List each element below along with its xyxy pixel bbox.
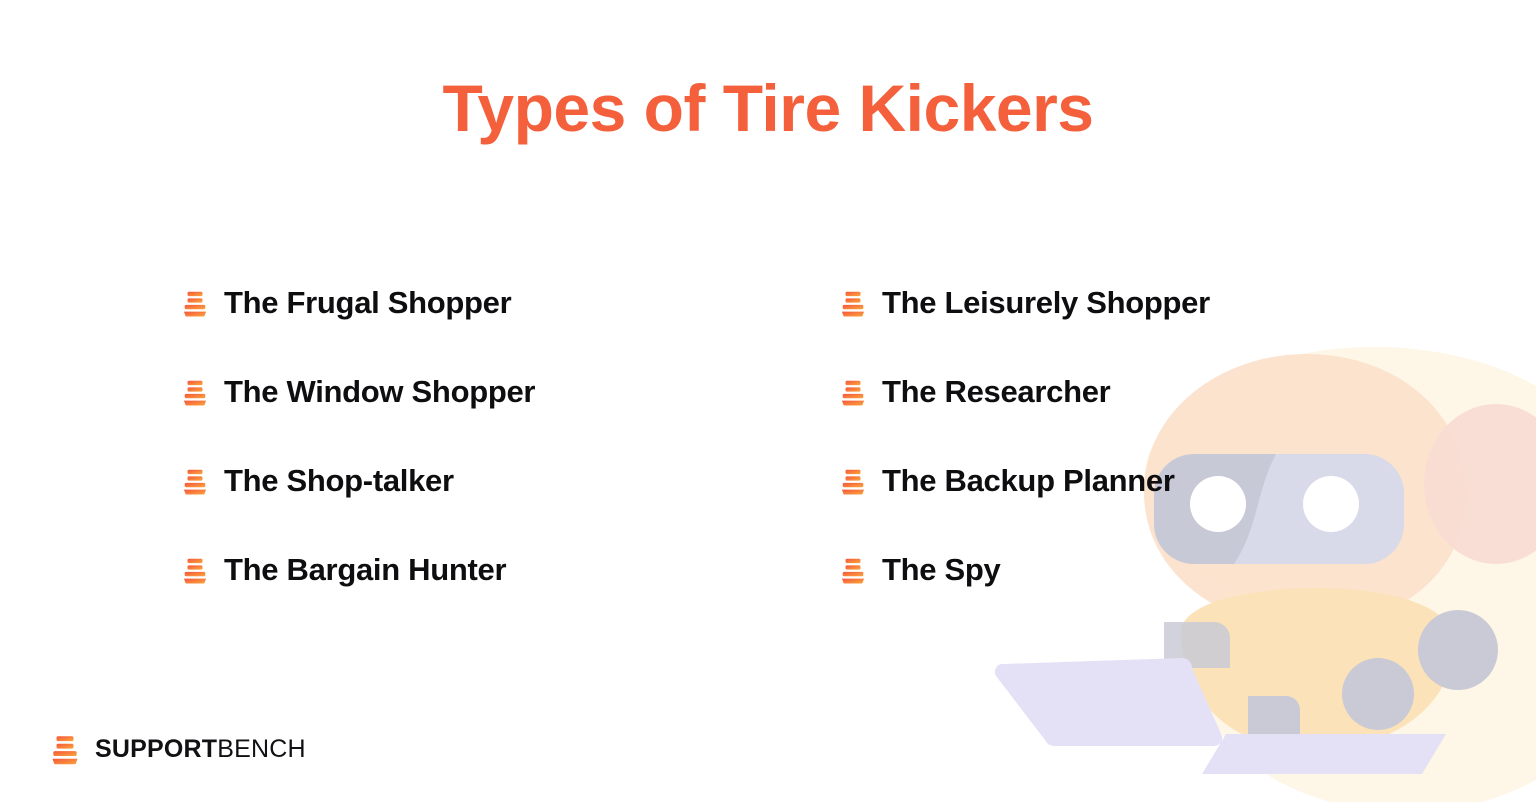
bench-bullet-icon [838, 377, 868, 407]
tire-kicker-types-list: The Frugal Shopper [0, 258, 1536, 618]
list-item-label: The Window Shopper [224, 376, 535, 407]
bench-bullet-icon [838, 555, 868, 585]
list-item[interactable]: The Window Shopper [180, 347, 768, 436]
list-item[interactable]: The Spy [838, 525, 1536, 614]
list-item-label: The Researcher [882, 376, 1110, 407]
list-item-label: The Backup Planner [882, 465, 1175, 496]
list-item-label: The Shop-talker [224, 465, 454, 496]
list-item[interactable]: The Shop-talker [180, 436, 768, 525]
list-column-left: The Frugal Shopper [0, 258, 768, 618]
bench-bullet-icon [180, 555, 210, 585]
bench-bullet-icon [838, 288, 868, 318]
list-item-label: The Frugal Shopper [224, 287, 511, 318]
list-item[interactable]: The Bargain Hunter [180, 525, 768, 614]
supportbench-logo[interactable]: SUPPORTBENCH [48, 732, 306, 766]
list-item-label: The Spy [882, 554, 1000, 585]
bench-bullet-icon [838, 466, 868, 496]
bench-logo-icon [48, 732, 82, 766]
bench-bullet-icon [180, 288, 210, 318]
logo-wordmark: SUPPORTBENCH [95, 737, 306, 762]
list-item-label: The Leisurely Shopper [882, 287, 1210, 318]
logo-wordmark-strong: SUPPORT [95, 735, 217, 763]
bench-bullet-icon [180, 466, 210, 496]
list-item[interactable]: The Leisurely Shopper [838, 258, 1536, 347]
bench-bullet-icon [180, 377, 210, 407]
list-item[interactable]: The Frugal Shopper [180, 258, 768, 347]
list-item[interactable]: The Backup Planner [838, 436, 1536, 525]
logo-wordmark-light: BENCH [217, 735, 306, 763]
list-item[interactable]: The Researcher [838, 347, 1536, 436]
list-column-right: The Leisurely Shopper [768, 258, 1536, 618]
list-item-label: The Bargain Hunter [224, 554, 506, 585]
slide-canvas: Types of Tire Kickers [0, 0, 1536, 802]
page-title: Types of Tire Kickers [0, 74, 1536, 143]
